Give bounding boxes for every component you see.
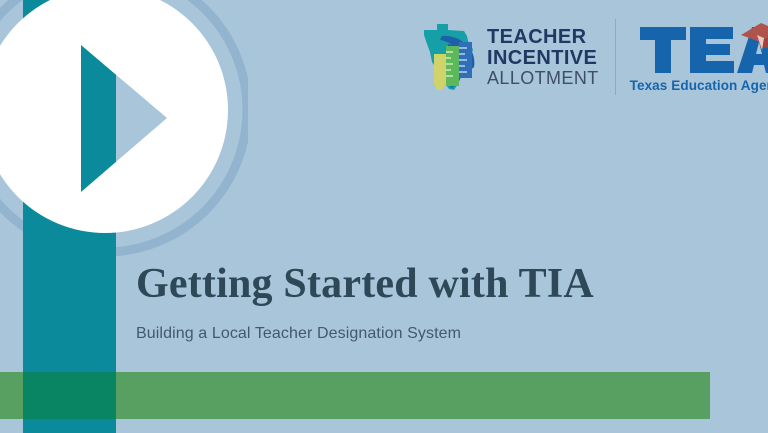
page-subtitle: Building a Local Teacher Designation Sys…: [136, 325, 736, 343]
logo-divider: [615, 19, 616, 95]
tea-subtitle: Texas Education Agency: [630, 78, 768, 93]
title-block: Getting Started with TIA Building a Loca…: [136, 262, 736, 343]
tea-acronym-mark: R: [638, 21, 768, 77]
logo-row: TEACHER INCENTIVE ALLOTMENT: [418, 14, 768, 100]
tia-logo: TEACHER INCENTIVE ALLOTMENT: [418, 14, 599, 100]
tia-line-incentive: INCENTIVE: [487, 48, 599, 68]
texas-state-outline-icon: [418, 22, 484, 92]
tia-line-allotment: ALLOTMENT: [487, 69, 599, 87]
tia-wordmark: TEACHER INCENTIVE ALLOTMENT: [487, 27, 599, 87]
page-title: Getting Started with TIA: [136, 262, 736, 307]
tia-line-teacher: TEACHER: [487, 27, 599, 47]
play-button-graphic[interactable]: [0, 0, 248, 257]
tea-logo: R Texas Education Agency: [630, 21, 768, 93]
bar-overlap-block: [23, 372, 116, 419]
slide-canvas: TEACHER INCENTIVE ALLOTMENT: [0, 0, 768, 433]
